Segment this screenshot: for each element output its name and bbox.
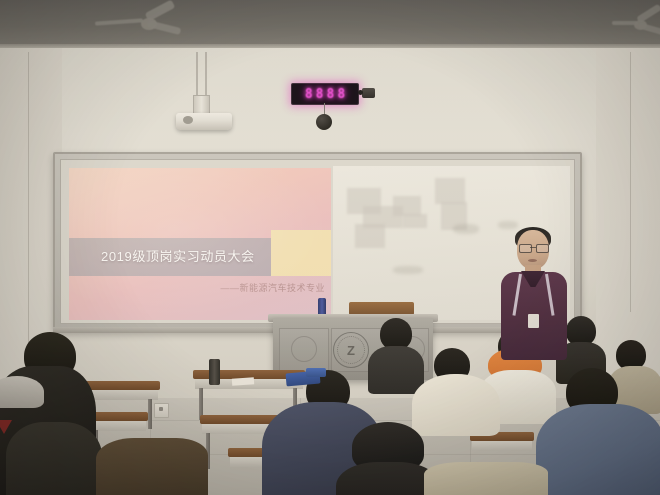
student-front-right-tan — [424, 462, 544, 495]
mosaic-block — [355, 224, 385, 248]
classroom-photo: 8 8 8 8 2019级顶岗实习动员大会 ——新能源汽车技术专业 — [0, 0, 660, 495]
led-display: 8 8 8 8 — [291, 83, 359, 105]
presenter-mouth — [528, 259, 537, 262]
wall-seam-left — [28, 52, 29, 352]
presenter — [495, 230, 575, 360]
blue-item-on-desk — [306, 368, 326, 377]
slide-title: 2019级顶岗实习动员大会 — [101, 244, 291, 270]
projected-slide: 2019级顶岗实习动员大会 ——新能源汽车技术专业 — [69, 168, 331, 320]
student-left-seated — [96, 438, 206, 495]
projector-rod-a — [196, 52, 198, 96]
student-right-blue-jacket — [536, 368, 660, 495]
glasses-icon — [519, 244, 547, 251]
wall-seam-right — [630, 52, 631, 312]
student-cream-puffer — [412, 348, 498, 430]
ceiling-projector — [176, 113, 232, 130]
led-digit-1: 8 — [305, 87, 313, 102]
jacket-hood-lining — [0, 376, 44, 408]
security-camera-icon — [362, 88, 375, 98]
led-digit-2: 8 — [316, 87, 324, 102]
ceiling-fan-left — [95, 4, 205, 42]
slide-subtitle: ——新能源汽车技术专业 — [220, 281, 325, 294]
podium-school-emblem: Z — [333, 332, 369, 368]
student-center-black-cap — [336, 422, 436, 495]
ceiling-fan-right — [612, 8, 660, 42]
id-badge — [528, 314, 539, 328]
podium-emblem-left — [291, 336, 317, 362]
led-digit-4: 8 — [337, 87, 345, 102]
board-smudge — [453, 224, 479, 234]
led-digit-3: 8 — [327, 87, 335, 102]
mosaic-block — [403, 214, 427, 228]
board-smudge — [498, 221, 518, 229]
thermos-bottle — [209, 359, 220, 385]
board-smudge — [393, 266, 423, 274]
dome-sensor-icon — [316, 114, 332, 130]
mosaic-block — [393, 196, 421, 216]
podium-emblem-label: Z — [347, 343, 355, 358]
mosaic-block — [435, 178, 465, 204]
projector-rod-b — [205, 52, 207, 96]
student-left-hooded — [6, 410, 98, 495]
